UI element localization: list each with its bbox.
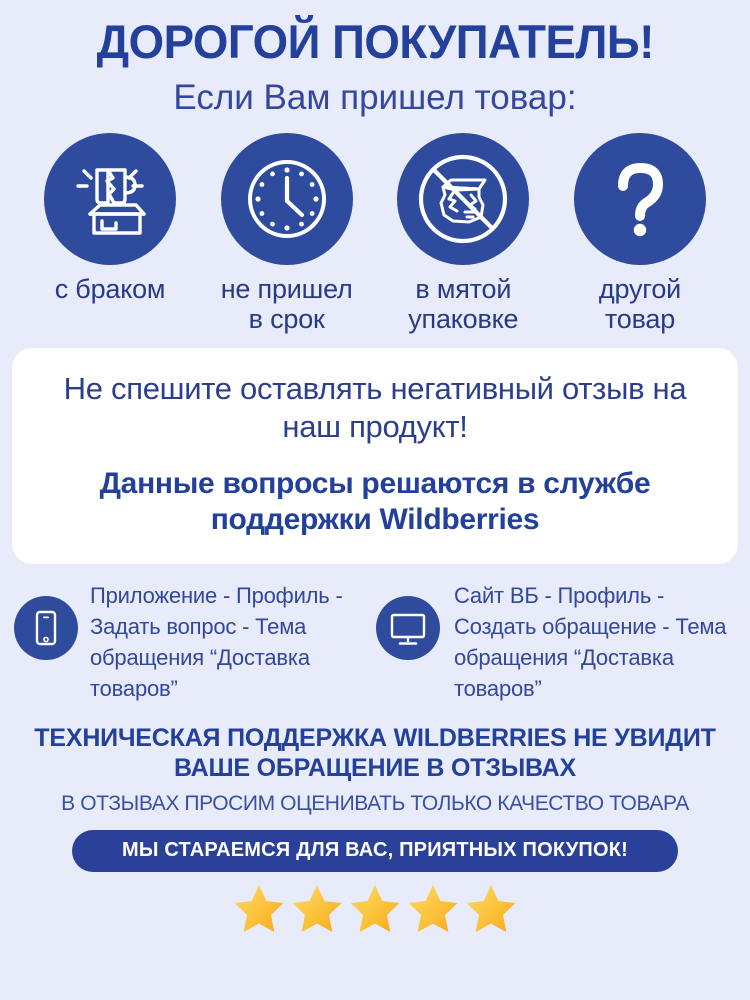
advice-card: Не спешите оставлять негативный отзыв на… [12, 348, 738, 564]
support-channels: Приложение - Профиль - Задать вопрос - Т… [0, 580, 750, 705]
advice-card-lead: Не спешите оставлять негативный отзыв на… [38, 370, 712, 446]
issue-caption: другойтовар [599, 274, 681, 334]
clock-icon [221, 133, 353, 265]
advice-card-strong: Данные вопросы решаются в службе поддерж… [38, 466, 712, 538]
issue-item-wrong-product: другойтовар [556, 133, 724, 334]
rating-stars [231, 882, 519, 936]
channel-website: Сайт ВБ - Профиль - Создать обращение - … [376, 580, 736, 705]
question-mark-icon [574, 133, 706, 265]
star-icon [231, 882, 287, 936]
channel-instructions: Приложение - Профиль - Задать вопрос - Т… [90, 580, 374, 705]
channel-instructions: Сайт ВБ - Профиль - Создать обращение - … [452, 580, 736, 705]
notice-headline: ТЕХНИЧЕСКАЯ ПОДДЕРЖКА WILDBERRIES НЕ УВИ… [20, 723, 730, 784]
desktop-monitor-icon [376, 596, 440, 660]
star-icon [405, 882, 461, 936]
page-title: ДОРОГОЙ ПОКУПАТЕЛЬ! [96, 18, 653, 66]
smartphone-icon [14, 596, 78, 660]
issue-icon-row: с браком [0, 133, 750, 334]
support-notice: ТЕХНИЧЕСКАЯ ПОДДЕРЖКА WILDBERRIES НЕ УВИ… [0, 723, 750, 816]
star-icon [347, 882, 403, 936]
cta-button[interactable]: МЫ СТАРАЕМСЯ ДЛЯ ВАС, ПРИЯТНЫХ ПОКУПОК! [72, 830, 678, 872]
issue-item-crumpled: в мятойупаковке [379, 133, 547, 334]
channel-mobile-app: Приложение - Профиль - Задать вопрос - Т… [14, 580, 374, 705]
issue-caption: с браком [55, 274, 166, 304]
issue-item-defective: с браком [26, 133, 194, 334]
no-crumpled-package-icon [397, 133, 529, 265]
issue-caption: не пришелв срок [221, 274, 353, 334]
issue-caption: в мятойупаковке [408, 274, 518, 334]
page-subtitle: Если Вам пришел товар: [173, 80, 576, 117]
broken-item-in-box-icon [44, 133, 176, 265]
star-icon [289, 882, 345, 936]
star-icon [463, 882, 519, 936]
issue-item-late: не пришелв срок [203, 133, 371, 334]
infographic-page: ДОРОГОЙ ПОКУПАТЕЛЬ! Если Вам пришел това… [0, 0, 750, 1000]
notice-subline: В ОТЗЫВАХ ПРОСИМ ОЦЕНИВАТЬ ТОЛЬКО КАЧЕСТ… [20, 791, 730, 816]
